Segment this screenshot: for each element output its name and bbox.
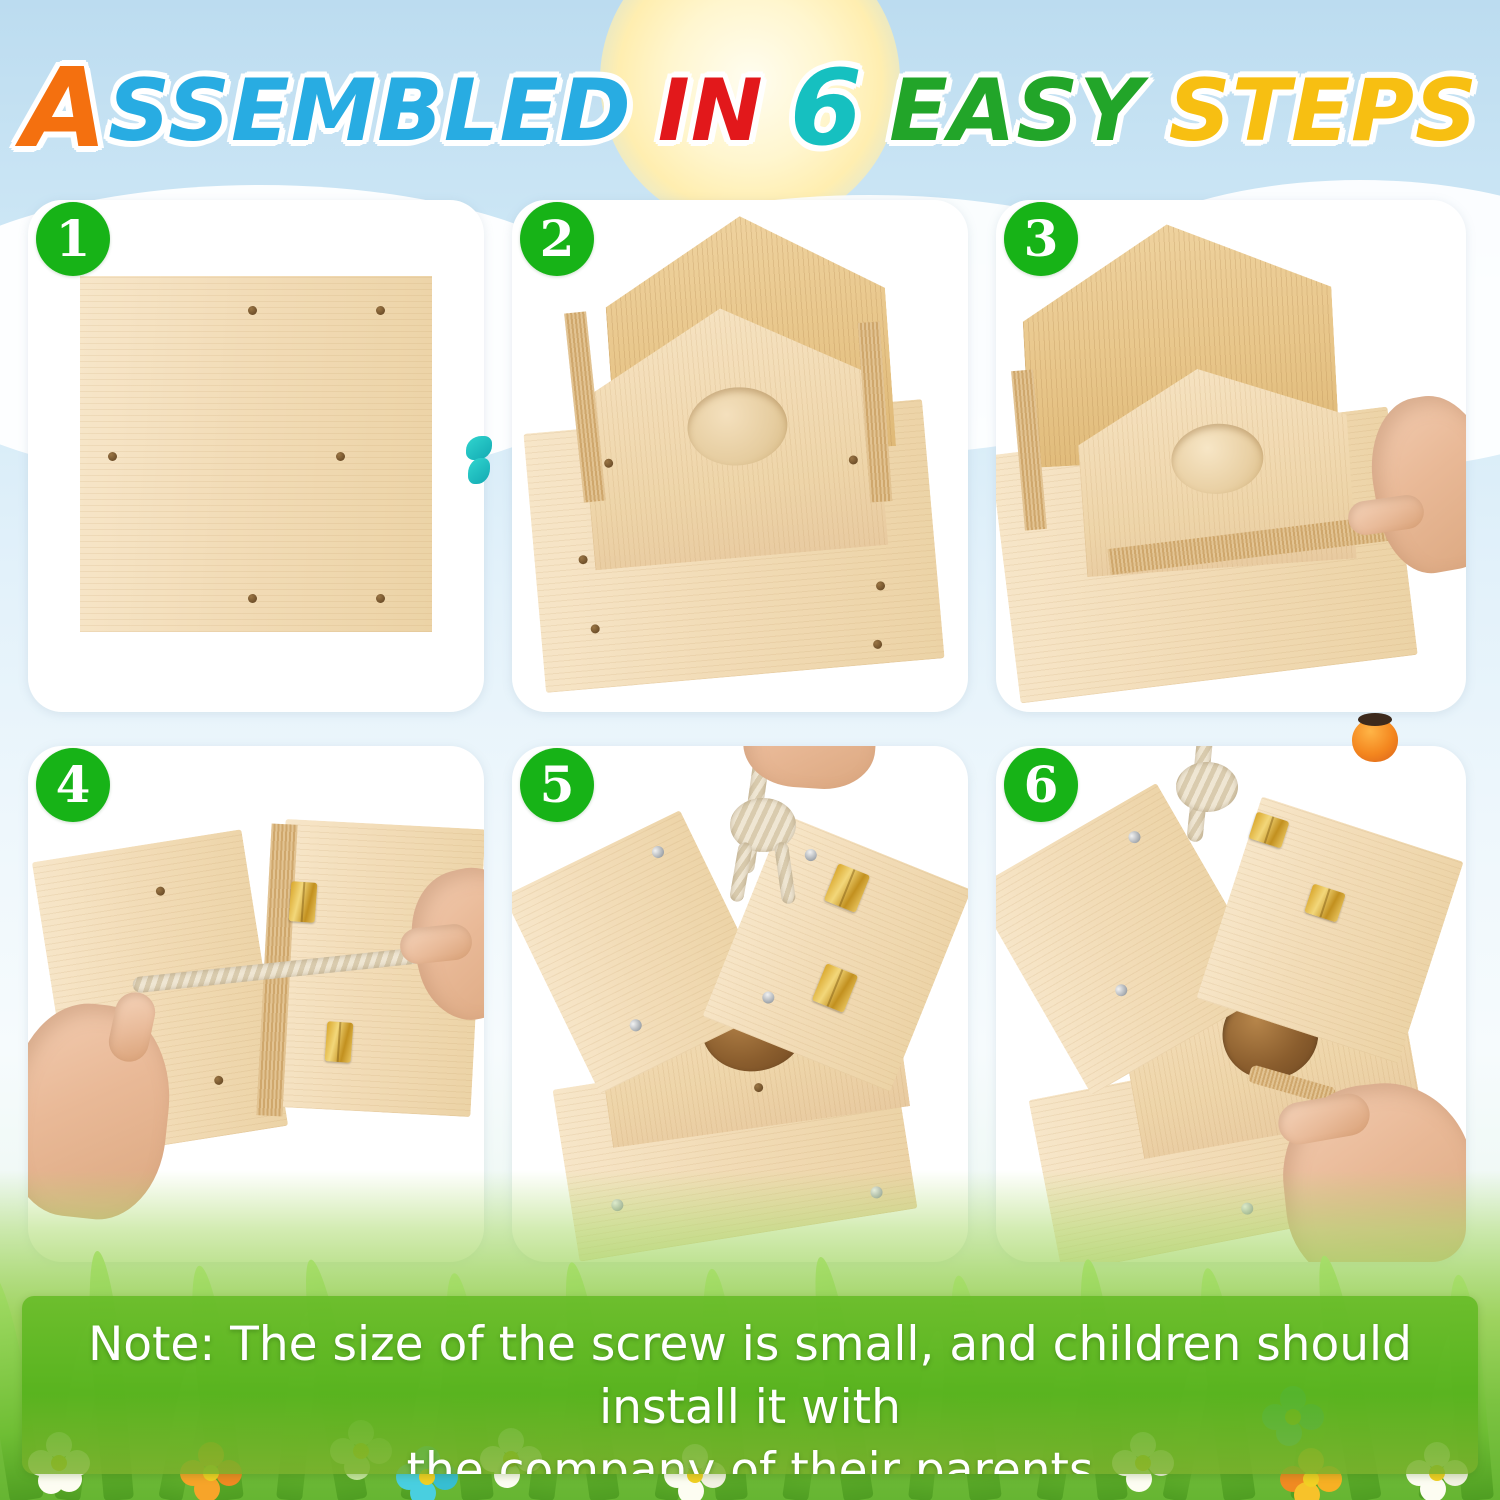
title-word-steps: STEPS: [1169, 61, 1478, 161]
note-line-1: Note: The size of the screw is small, an…: [22, 1314, 1478, 1440]
step-badge-2: 2: [520, 202, 594, 276]
page-title: ASSEMBLEDIN6EASYSTEPS: [0, 44, 1500, 172]
hinge-top: [289, 881, 318, 923]
step-badge-3: 3: [1004, 202, 1078, 276]
butterfly-icon: [466, 432, 500, 492]
step-panel-3[interactable]: [996, 200, 1466, 712]
title-letter-a: A: [22, 44, 108, 172]
step-panel-2[interactable]: [512, 200, 968, 712]
step-badge-5: 5: [520, 748, 594, 822]
step-panel-1[interactable]: [28, 200, 484, 712]
steps-grid: 1 2 3 4 5 6: [20, 198, 1480, 1266]
step-badge-1: 1: [36, 202, 110, 276]
step-number-3: 3: [1024, 214, 1059, 264]
title-word-easy: EASY: [889, 61, 1143, 161]
step-number-6: 6: [1024, 760, 1059, 810]
hinge-bottom: [325, 1021, 354, 1063]
title-word-ssembled: SSEMBLED: [108, 61, 632, 161]
entrance-hole: [1169, 421, 1266, 497]
step-badge-6: 6: [1004, 748, 1078, 822]
step-badge-4: 4: [36, 748, 110, 822]
ladybug-icon: [1352, 718, 1398, 762]
title-word-in: IN: [658, 61, 764, 161]
note-banner: Note: The size of the screw is small, an…: [22, 1296, 1478, 1474]
entrance-hole: [684, 383, 790, 469]
rope-knot: [1176, 762, 1238, 812]
step-number-4: 4: [56, 760, 91, 810]
step-number-1: 1: [56, 214, 91, 264]
note-line-2: the company of their parents: [22, 1440, 1478, 1474]
infographic-canvas: ASSEMBLEDIN6EASYSTEPS: [0, 0, 1500, 1500]
base-board: [80, 276, 432, 632]
title-digit-6: 6: [790, 47, 863, 169]
step-number-2: 2: [540, 214, 575, 264]
step-number-5: 5: [540, 760, 575, 810]
